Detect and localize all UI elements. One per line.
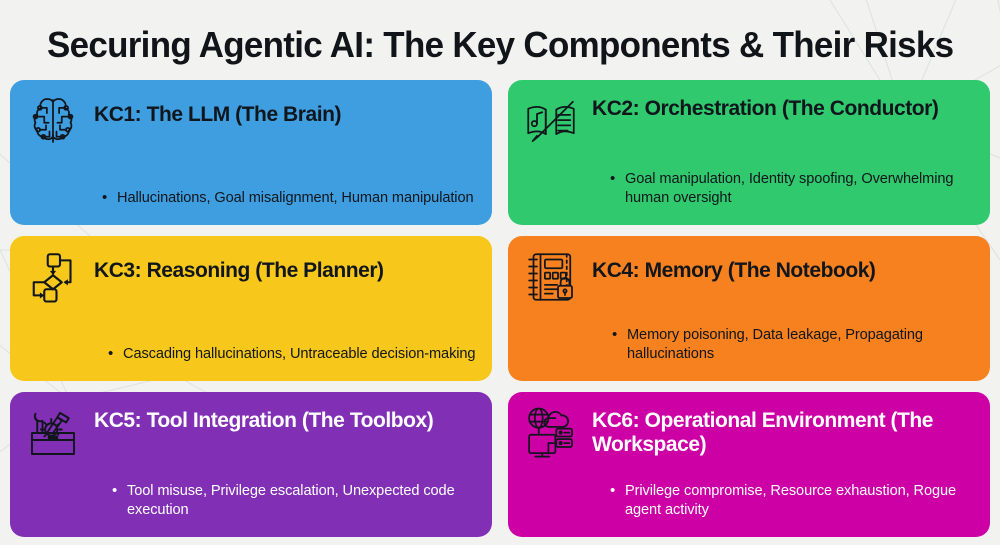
card-kc5[interactable]: KC5: Tool Integration (The Toolbox) Tool… (10, 392, 492, 537)
card-kc6[interactable]: KC6: Operational Environment (The Worksp… (508, 392, 990, 537)
risk-item: Privilege compromise, Resource exhaustio… (610, 482, 974, 521)
card-kc3-head: KC3: Reasoning (The Planner) (24, 248, 476, 306)
flowchart-icon (24, 248, 82, 306)
card-kc2[interactable]: KC2: Orchestration (The Conductor) Goal … (508, 80, 990, 225)
card-kc1[interactable]: KC1: The LLM (The Brain) Hallucinations,… (10, 80, 492, 225)
card-kc1-heading: KC1: The LLM (The Brain) (94, 92, 341, 127)
risk-item: Hallucinations, Goal misalignment, Human… (102, 189, 476, 209)
card-kc2-heading: KC2: Orchestration (The Conductor) (592, 92, 938, 121)
card-kc6-head: KC6: Operational Environment (The Worksp… (522, 404, 974, 462)
risk-item: Goal manipulation, Identity spoofing, Ov… (610, 170, 974, 209)
card-kc3[interactable]: KC3: Reasoning (The Planner) Cascading h… (10, 236, 492, 381)
risk-item: Tool misuse, Privilege escalation, Unexp… (112, 482, 476, 521)
toolbox-icon (24, 404, 82, 462)
component-card-grid: KC1: The LLM (The Brain) Hallucinations,… (10, 80, 990, 537)
brain-circuit-icon (24, 92, 82, 150)
card-kc4[interactable]: KC4: Memory (The Notebook) Memory poison… (508, 236, 990, 381)
card-kc4-heading: KC4: Memory (The Notebook) (592, 248, 875, 283)
risk-item: Cascading hallucinations, Untraceable de… (108, 345, 476, 365)
card-kc2-head: KC2: Orchestration (The Conductor) (522, 92, 974, 150)
risk-item: Memory poisoning, Data leakage, Propagat… (612, 326, 974, 365)
card-kc6-heading: KC6: Operational Environment (The Worksp… (592, 404, 974, 457)
card-kc6-risks: Privilege compromise, Resource exhaustio… (522, 482, 974, 527)
title-bar: Securing Agentic AI: The Key Components … (10, 10, 990, 80)
card-kc4-head: KC4: Memory (The Notebook) (522, 248, 974, 306)
card-kc2-risks: Goal manipulation, Identity spoofing, Ov… (522, 170, 974, 215)
cloud-server-network-icon (522, 404, 580, 462)
card-kc5-risks: Tool misuse, Privilege escalation, Unexp… (24, 482, 476, 527)
card-kc1-head: KC1: The LLM (The Brain) (24, 92, 476, 150)
page-title: Securing Agentic AI: The Key Components … (47, 24, 953, 66)
locked-notebook-icon (522, 248, 580, 306)
card-kc4-risks: Memory poisoning, Data leakage, Propagat… (522, 326, 974, 371)
card-kc3-risks: Cascading hallucinations, Untraceable de… (24, 345, 476, 371)
sheet-music-baton-icon (522, 92, 580, 150)
card-kc1-risks: Hallucinations, Goal misalignment, Human… (24, 189, 476, 215)
infographic-page: Securing Agentic AI: The Key Components … (0, 0, 1000, 545)
card-kc5-heading: KC5: Tool Integration (The Toolbox) (94, 404, 433, 433)
card-kc5-head: KC5: Tool Integration (The Toolbox) (24, 404, 476, 462)
card-kc3-heading: KC3: Reasoning (The Planner) (94, 248, 384, 283)
